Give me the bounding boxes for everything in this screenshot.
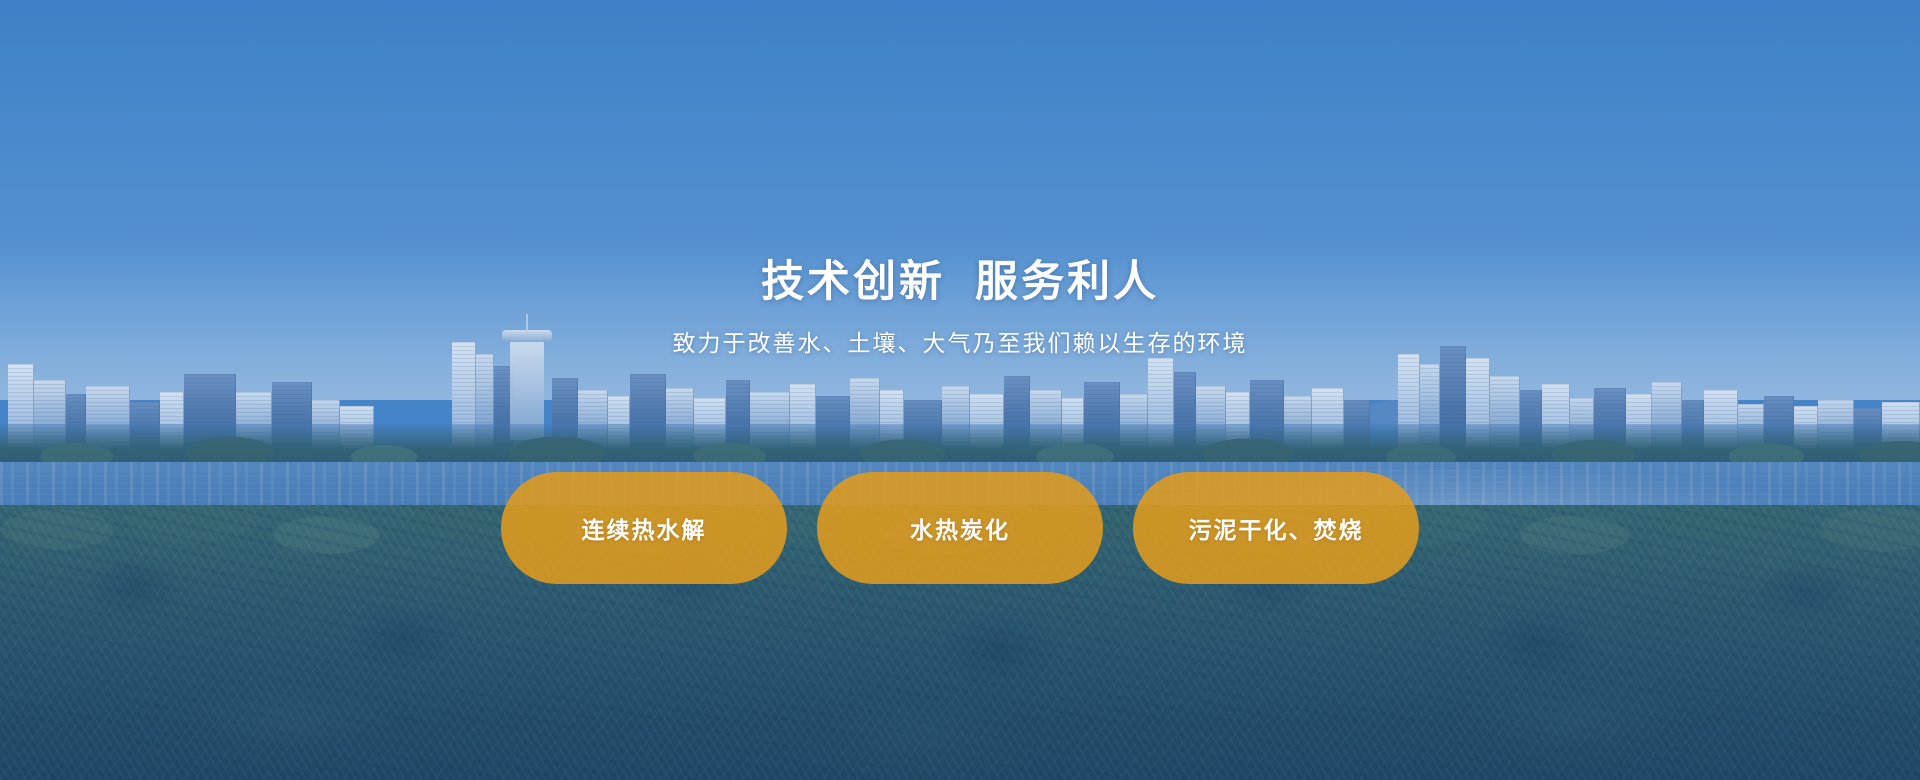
service-button-hydrothermal-carbonization[interactable]: 水热炭化 [817,472,1103,584]
hero-subtitle: 致力于改善水、土壤、大气乃至我们赖以生存的环境 [0,327,1920,359]
hero-button-row: 连续热水解 水热炭化 污泥干化、焚烧 [0,472,1920,584]
page-title: 技术创新 服务利人 [0,258,1920,307]
hero-copy: 技术创新 服务利人 致力于改善水、土壤、大气乃至我们赖以生存的环境 [0,258,1920,360]
service-button-sludge-drying-incineration[interactable]: 污泥干化、焚烧 [1133,472,1419,584]
service-button-continuous-thermal-hydrolysis[interactable]: 连续热水解 [501,472,787,584]
hero-banner: 技术创新 服务利人 致力于改善水、土壤、大气乃至我们赖以生存的环境 连续热水解 … [0,0,1920,780]
